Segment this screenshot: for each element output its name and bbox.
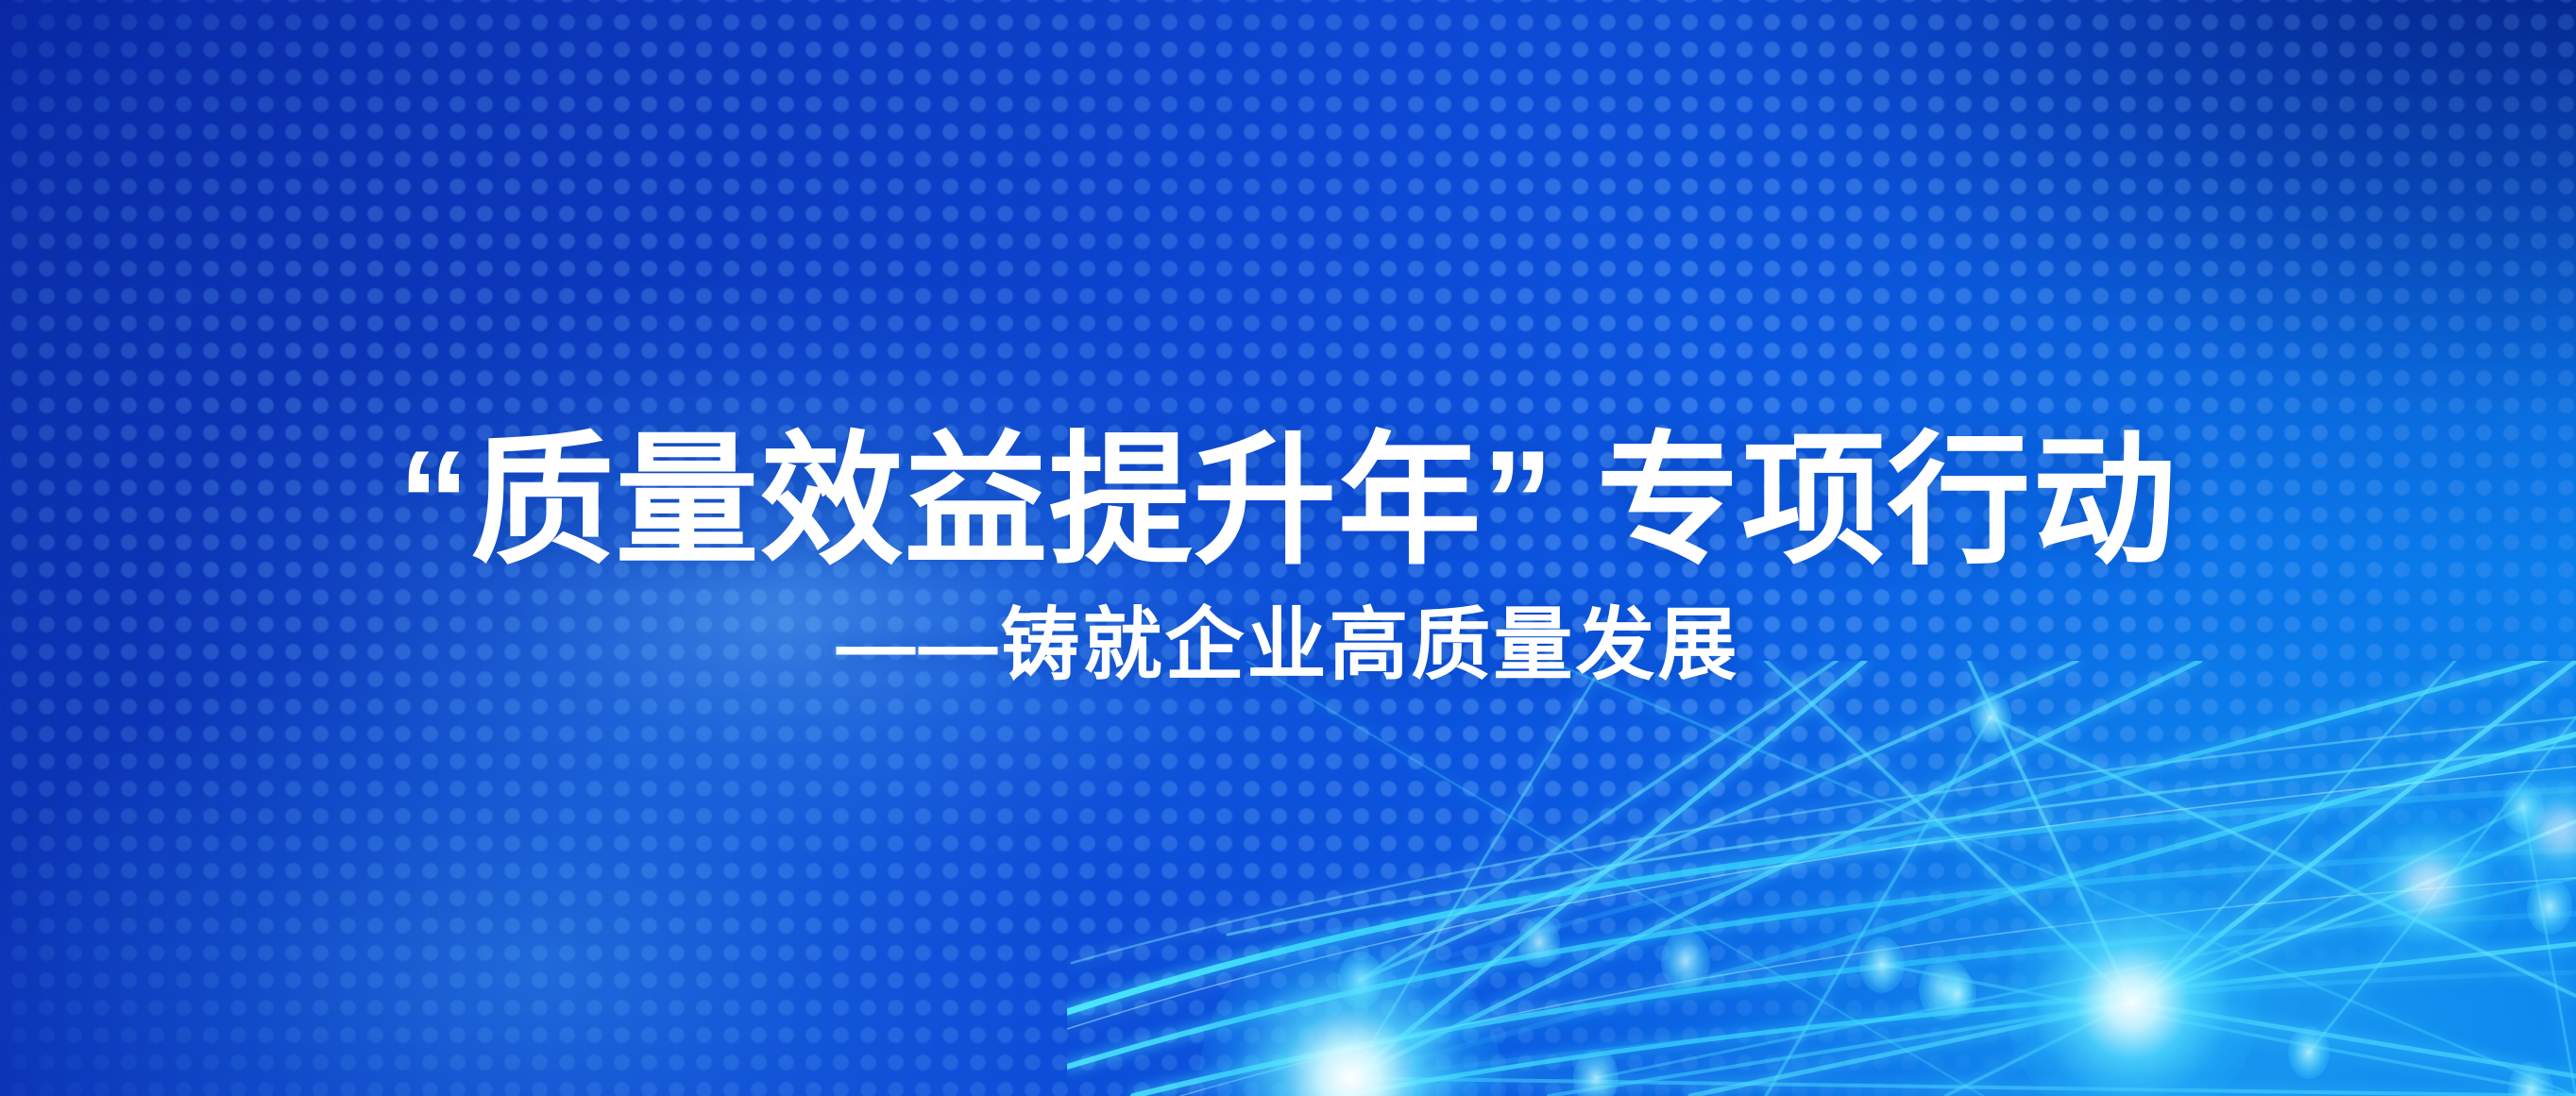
promotional-banner: “质量效益提升年”专项行动 ——铸就企业高质量发展 [0, 0, 2576, 1096]
page-title: “质量效益提升年”专项行动 [0, 430, 2576, 573]
headline-action-part: 专项行动 [1597, 421, 2178, 582]
headline-quoted-part: “质量效益提升年” [398, 421, 1555, 582]
page-subtitle: ——铸就企业高质量发展 [0, 605, 2576, 684]
banner-text-block: “质量效益提升年”专项行动 ——铸就企业高质量发展 [0, 430, 2576, 684]
